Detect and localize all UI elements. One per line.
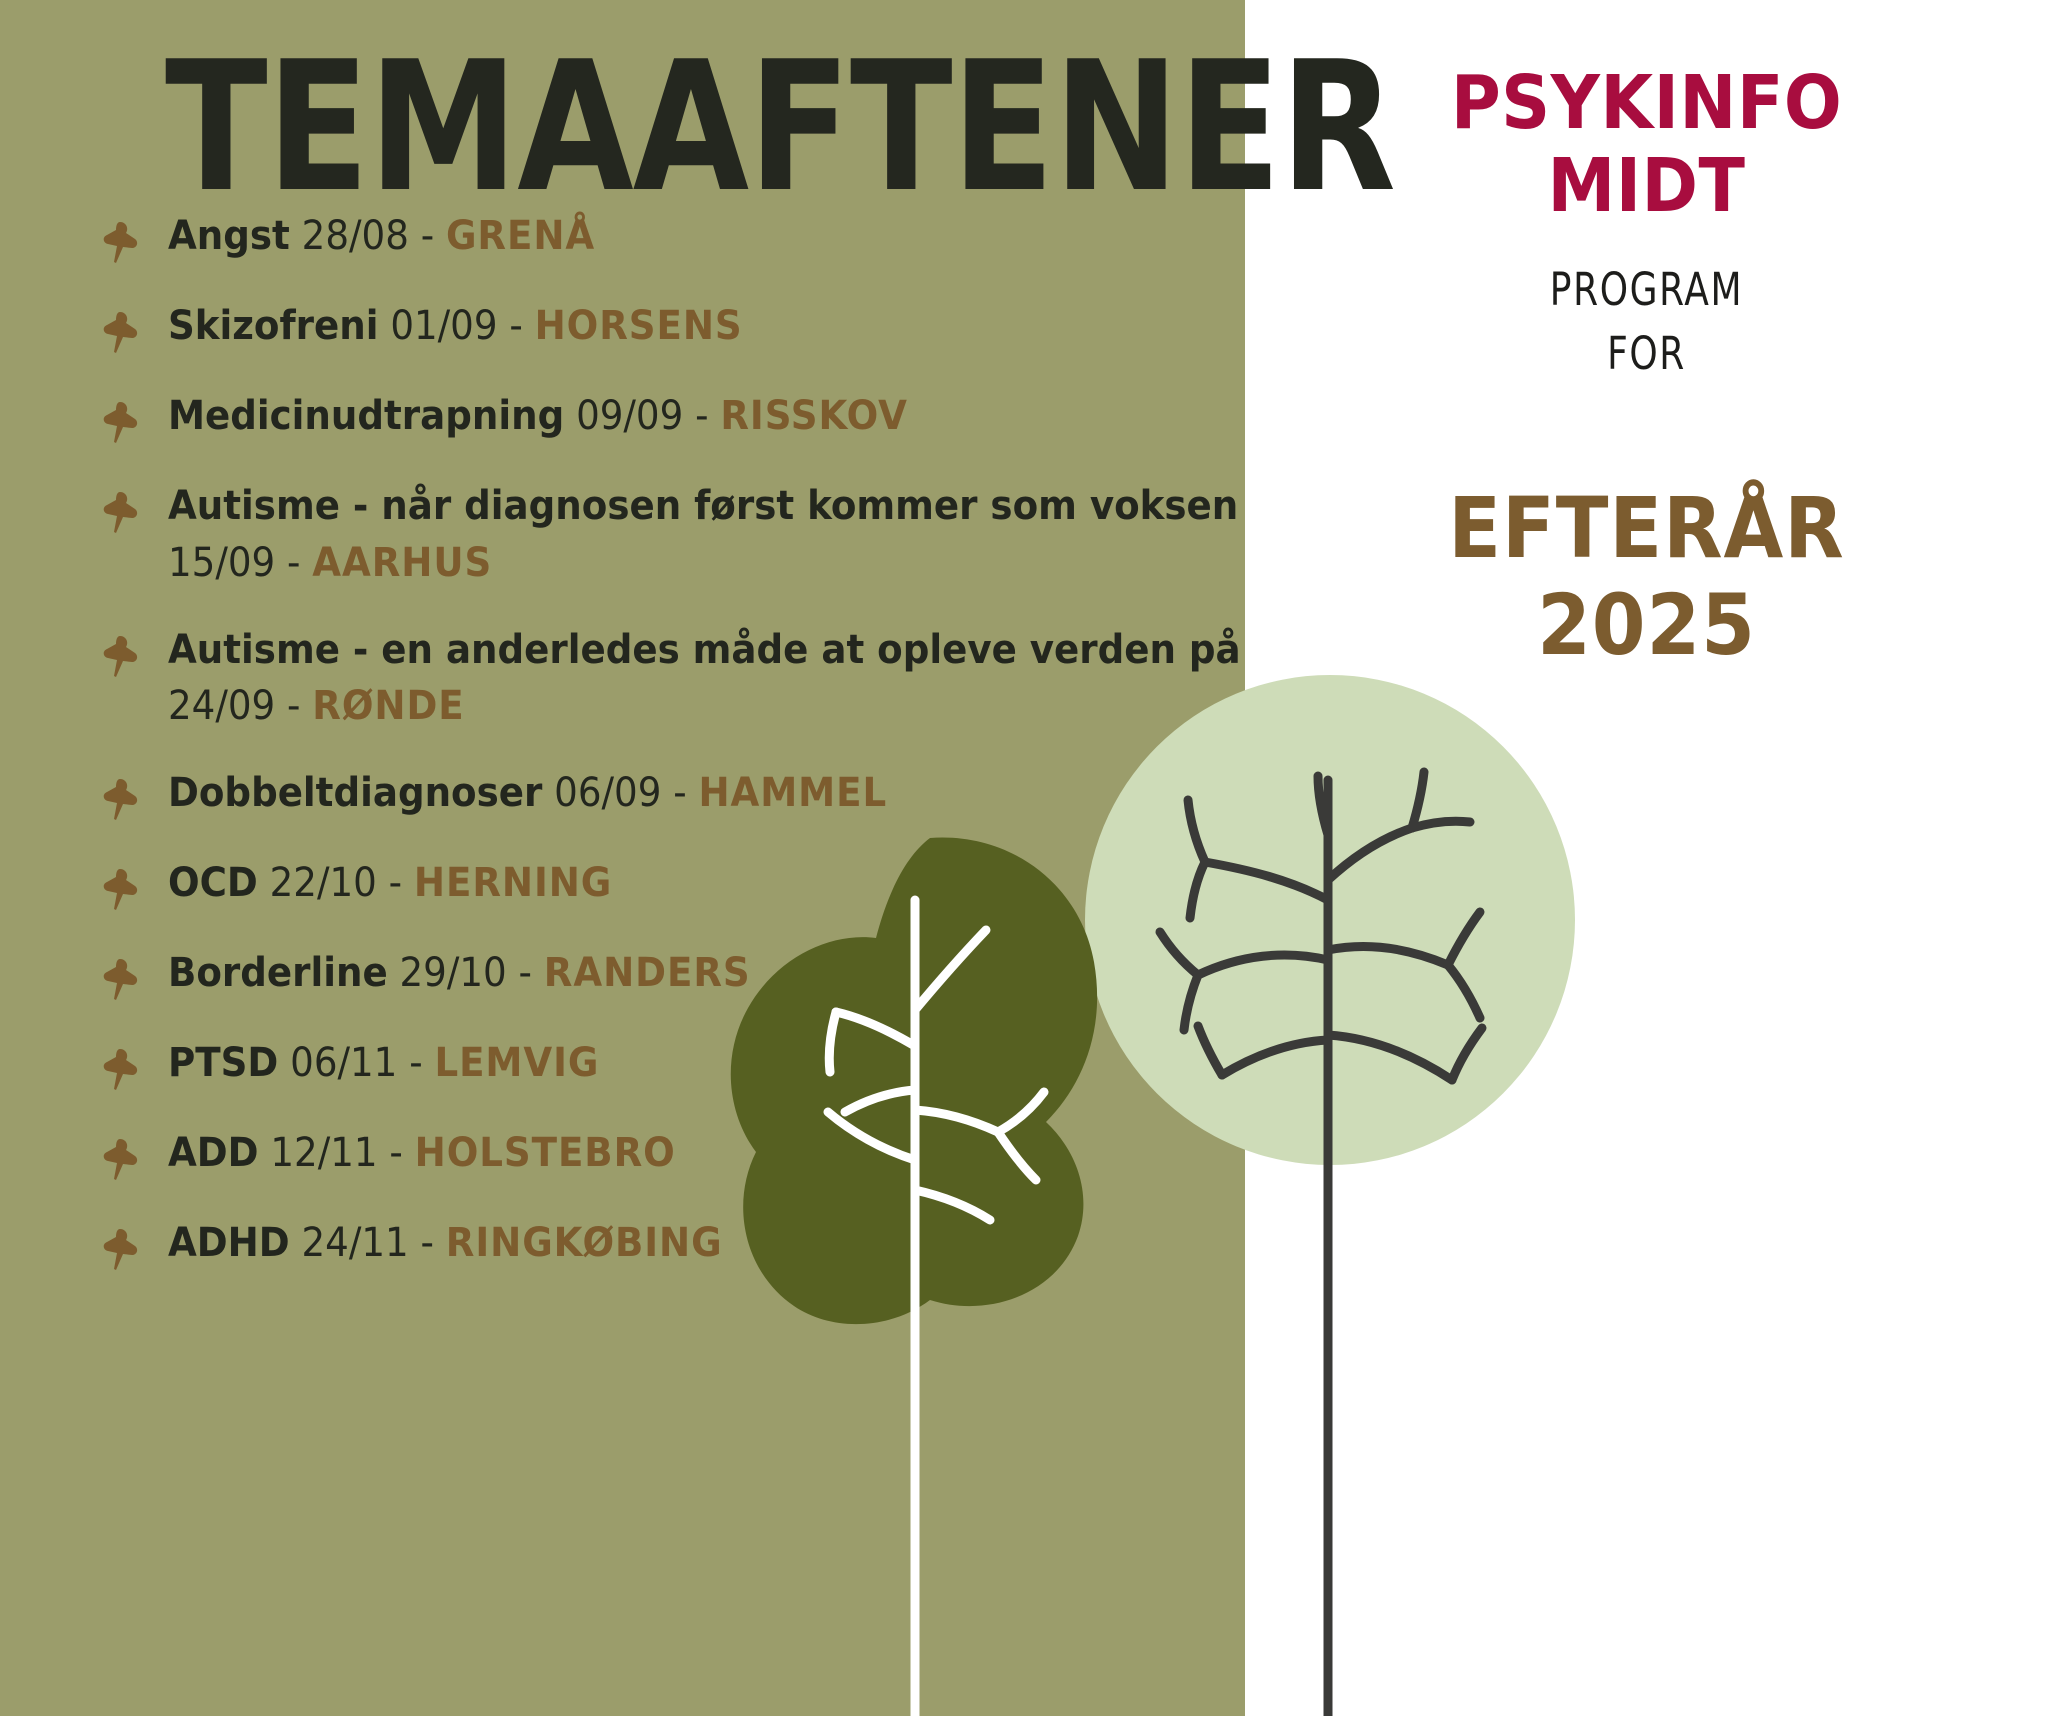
list-item[interactable]: Dobbeltdiagnoser 06/09 - HAMMEL <box>90 765 1210 829</box>
event-topic: Dobbeltdiagnoser <box>168 770 542 816</box>
event-list: Angst 28/08 - GRENÅ Skizofreni 01/09 - H… <box>90 208 1210 1305</box>
pushpin-icon <box>90 478 168 542</box>
event-topic: Borderline <box>168 950 388 996</box>
event-text: PTSD 06/11 - LEMVIG <box>168 1035 599 1092</box>
program-line2: FOR <box>1325 322 1967 386</box>
program-subtitle: PROGRAM FOR <box>1325 258 1967 386</box>
event-dash: - <box>287 683 300 729</box>
event-date: 15/09 <box>168 540 275 586</box>
event-place: HOLSTEBRO <box>415 1130 676 1176</box>
event-text: Borderline 29/10 - RANDERS <box>168 945 751 1002</box>
pushpin-icon <box>90 388 168 452</box>
poster-root: TEMAAFTENER Angst 28/08 - GRENÅ Skizofre… <box>0 0 2048 1716</box>
event-place: RANDERS <box>544 950 751 996</box>
event-date: 06/09 <box>554 770 661 816</box>
event-text: OCD 22/10 - HERNING <box>168 855 612 912</box>
season-label: EFTERÅR 2025 <box>1277 480 2016 675</box>
pushpin-icon <box>90 945 168 1009</box>
list-item[interactable]: Autisme - når diagnosen først kommer som… <box>90 478 1210 592</box>
event-topic: ADD <box>168 1130 259 1176</box>
event-dash: - <box>509 303 522 349</box>
event-date: 06/11 <box>290 1040 397 1086</box>
pushpin-icon <box>90 1035 168 1099</box>
event-topic: PTSD <box>168 1040 278 1086</box>
event-place: GRENÅ <box>446 213 595 259</box>
event-date: 01/09 <box>390 303 497 349</box>
event-text: Autisme - når diagnosen først kommer som… <box>168 478 1238 592</box>
list-item[interactable]: ADD 12/11 - HOLSTEBRO <box>90 1125 1210 1189</box>
event-dash: - <box>519 950 532 996</box>
pushpin-icon <box>90 298 168 362</box>
event-dash: - <box>287 540 300 586</box>
list-item[interactable]: Borderline 29/10 - RANDERS <box>90 945 1210 1009</box>
pushpin-icon <box>90 1215 168 1279</box>
event-dash: - <box>673 770 686 816</box>
event-topic: Autisme - når diagnosen først kommer som… <box>168 483 1238 529</box>
pushpin-icon <box>90 208 168 272</box>
pushpin-icon <box>90 765 168 829</box>
event-dash: - <box>695 393 708 439</box>
event-date: 24/09 <box>168 683 275 729</box>
event-topic: ADHD <box>168 1220 290 1266</box>
event-topic: Medicinudtrapning <box>168 393 564 439</box>
event-date: 09/09 <box>576 393 683 439</box>
list-item[interactable]: Autisme - en anderledes måde at opleve v… <box>90 622 1210 736</box>
event-place: HAMMEL <box>698 770 887 816</box>
event-date: 29/10 <box>400 950 507 996</box>
season-line2: 2025 <box>1277 577 2016 674</box>
event-dash: - <box>421 1220 434 1266</box>
event-place: RISSKOV <box>720 393 907 439</box>
list-item[interactable]: ADHD 24/11 - RINGKØBING <box>90 1215 1210 1279</box>
brand-line1: PSYKINFO <box>1451 60 1842 146</box>
event-date: 12/11 <box>270 1130 377 1176</box>
event-topic: Skizofreni <box>168 303 378 349</box>
event-dash: - <box>409 1040 422 1086</box>
event-place: LEMVIG <box>434 1040 599 1086</box>
event-dash: - <box>389 860 402 906</box>
event-place: HORSENS <box>535 303 743 349</box>
pushpin-icon <box>90 855 168 919</box>
list-item[interactable]: Medicinudtrapning 09/09 - RISSKOV <box>90 388 1210 452</box>
program-line1: PROGRAM <box>1325 258 1967 322</box>
event-date: 22/10 <box>270 860 377 906</box>
event-place: AARHUS <box>312 540 492 586</box>
page-title: TEMAAFTENER <box>165 38 1395 217</box>
pushpin-icon <box>90 1125 168 1189</box>
event-place: RINGKØBING <box>446 1220 723 1266</box>
list-item[interactable]: Skizofreni 01/09 - HORSENS <box>90 298 1210 362</box>
event-topic: OCD <box>168 860 258 906</box>
pushpin-icon <box>90 622 168 686</box>
event-text: Autisme - en anderledes måde at opleve v… <box>168 622 1241 736</box>
event-dash: - <box>389 1130 402 1176</box>
sidebar: PSYKINFO MIDT PROGRAM FOR EFTERÅR 2025 <box>1245 0 2048 1716</box>
event-text: ADHD 24/11 - RINGKØBING <box>168 1215 723 1272</box>
brand-logo: PSYKINFO MIDT <box>1277 62 2016 228</box>
event-date: 24/11 <box>302 1220 409 1266</box>
event-date: 28/08 <box>302 213 409 259</box>
event-topic: Angst <box>168 213 290 259</box>
event-place: RØNDE <box>312 683 464 729</box>
event-text: Medicinudtrapning 09/09 - RISSKOV <box>168 388 908 445</box>
season-line1: EFTERÅR <box>1277 480 2016 577</box>
list-item[interactable]: PTSD 06/11 - LEMVIG <box>90 1035 1210 1099</box>
brand-line2: MIDT <box>1277 145 2016 228</box>
event-text: Dobbeltdiagnoser 06/09 - HAMMEL <box>168 765 887 822</box>
list-item[interactable]: OCD 22/10 - HERNING <box>90 855 1210 919</box>
event-text: ADD 12/11 - HOLSTEBRO <box>168 1125 676 1182</box>
event-text: Skizofreni 01/09 - HORSENS <box>168 298 743 355</box>
event-dash: - <box>421 213 434 259</box>
event-place: HERNING <box>414 860 612 906</box>
event-topic: Autisme - en anderledes måde at opleve v… <box>168 627 1241 673</box>
list-item[interactable]: Angst 28/08 - GRENÅ <box>90 208 1210 272</box>
event-text: Angst 28/08 - GRENÅ <box>168 208 595 265</box>
